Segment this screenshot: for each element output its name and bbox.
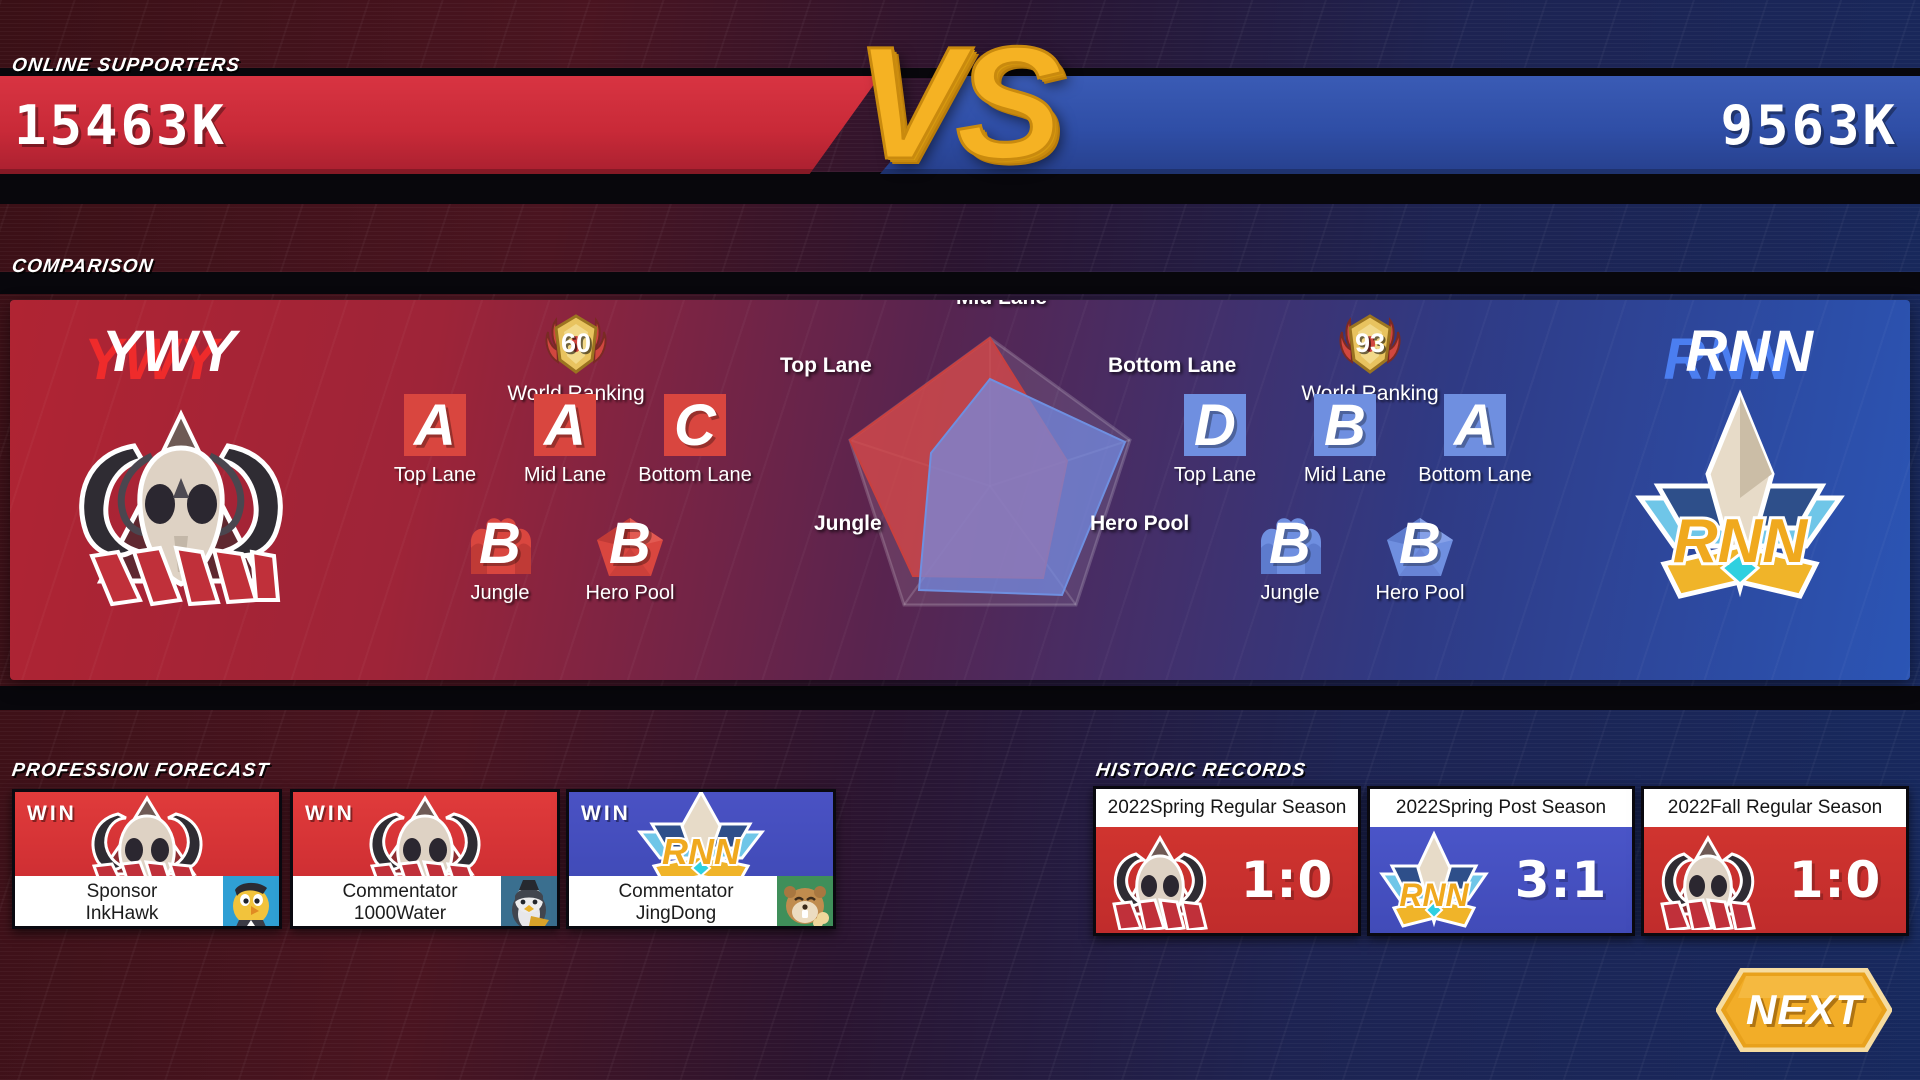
svg-text:RNN: RNN: [1673, 507, 1809, 576]
grade-label: Hero Pool: [1355, 582, 1485, 605]
grade-item: B Jungle: [435, 508, 565, 605]
radar-axis-label-top-lane: Top Lane: [780, 354, 872, 378]
grade-tile-icon: C: [656, 390, 734, 462]
vs-emblem: VS: [836, 18, 1076, 208]
grade-letter: A: [526, 390, 604, 462]
forecast-person: Commentator JingDong: [569, 881, 777, 924]
grade-tile-icon: A: [526, 390, 604, 462]
next-button[interactable]: NEXT: [1716, 968, 1892, 1052]
jungle-grade-icon: B: [1251, 508, 1329, 580]
match-comparison-screen: Online Supporters 15463K 9563K VS Compar…: [0, 0, 1920, 1080]
grade-label: Top Lane: [370, 464, 500, 487]
next-button-label: NEXT: [1716, 968, 1892, 1052]
grade-item: B Hero Pool: [565, 508, 695, 605]
record-body: 1:0: [1644, 827, 1906, 933]
grade-item: C Bottom Lane: [630, 390, 760, 487]
forecast-role: Commentator: [299, 881, 501, 902]
grade-letter: C: [656, 390, 734, 462]
svg-text:RNN: RNN: [662, 831, 741, 872]
record-title: 2022Spring Regular Season: [1096, 789, 1358, 827]
forecast-name: JingDong: [575, 903, 777, 924]
radar-axis-label-hero-pool: Hero Pool: [1090, 512, 1189, 536]
forecast-role: Sponsor: [21, 881, 223, 902]
grade-letter: B: [461, 508, 539, 580]
forecast-verdict: WIN: [305, 802, 355, 826]
ywy-logo-icon: [1098, 830, 1222, 930]
forecast-role: Commentator: [575, 881, 777, 902]
divider-above-comparison: [0, 272, 1920, 294]
grade-letter: B: [1306, 390, 1384, 462]
grade-item: B Mid Lane: [1280, 390, 1410, 487]
grade-label: Mid Lane: [1280, 464, 1410, 487]
world-ranking-badge-icon: 93: [1334, 312, 1406, 378]
comparison-caption: Comparison: [10, 256, 155, 278]
svg-text:RNN: RNN: [1399, 877, 1469, 913]
forecast-card-banner: WIN: [15, 792, 279, 876]
forecast-card-info: Commentator 1000Water: [293, 876, 557, 929]
grade-label: Jungle: [435, 582, 565, 605]
online-supporters-caption: Online Supporters: [10, 55, 241, 77]
forecast-card[interactable]: WIN: [12, 789, 282, 929]
supporters-left-count: 15463K: [14, 94, 227, 157]
grade-tile-icon: A: [396, 390, 474, 462]
grade-letter: B: [591, 508, 669, 580]
grade-letter: B: [1381, 508, 1459, 580]
forecast-card[interactable]: WIN RNN Commentator JingDong: [566, 789, 836, 929]
historic-records-caption: Historic Records: [1094, 760, 1307, 782]
grade-label: Jungle: [1225, 582, 1355, 605]
world-ranking-badge-icon: 60: [540, 312, 612, 378]
grade-letter: A: [1436, 390, 1514, 462]
vs-label: VS: [836, 18, 1076, 188]
grade-label: Bottom Lane: [1410, 464, 1540, 487]
hero-pool-grade-icon: B: [1381, 508, 1459, 580]
radar-axis-label-jungle: Jungle: [814, 512, 882, 536]
grade-label: Mid Lane: [500, 464, 630, 487]
record-body: RNN 3:1: [1370, 827, 1632, 933]
grade-tile-icon: A: [1436, 390, 1514, 462]
record-score: 1:0: [1222, 851, 1358, 909]
team-right-grades-lanes: D Top Lane B Mid Lane A Bottom Lane: [1150, 390, 1540, 487]
record-card[interactable]: 2022Spring Regular Season: [1093, 786, 1361, 936]
team-right-name: RNN RNN: [1685, 318, 1814, 385]
record-score: 1:0: [1770, 851, 1906, 909]
ywy-logo-icon: [1646, 830, 1770, 930]
grade-letter: B: [1251, 508, 1329, 580]
record-score: 3:1: [1496, 851, 1632, 909]
ywy-logo-icon: [72, 792, 222, 876]
record-title: 2022Fall Regular Season: [1644, 789, 1906, 827]
hero-pool-grade-icon: B: [591, 508, 669, 580]
grade-item: A Top Lane: [370, 390, 500, 487]
forecast-person: Sponsor InkHawk: [15, 881, 223, 924]
hamster-avatar: [777, 876, 833, 929]
grade-label: Bottom Lane: [630, 464, 760, 487]
jungle-grade-icon: B: [461, 508, 539, 580]
record-card[interactable]: 2022Fall Regular Season: [1641, 786, 1909, 936]
forecast-verdict: WIN: [581, 802, 631, 826]
world-ranking-value: 93: [1334, 312, 1406, 378]
grade-tile-icon: B: [1306, 390, 1384, 462]
team-right-crest-rnn-icon: RNN: [1610, 378, 1870, 618]
team-left-name-text: YWY: [102, 319, 237, 384]
grade-label: Hero Pool: [565, 582, 695, 605]
rnn-logo-icon: RNN: [1372, 830, 1496, 930]
profession-forecast-caption: Profession Forecast: [10, 760, 270, 782]
forecast-card-banner: WIN RNN: [569, 792, 833, 876]
forecast-card-info: Sponsor InkHawk: [15, 876, 279, 929]
grade-item: A Bottom Lane: [1410, 390, 1540, 487]
grade-letter: D: [1176, 390, 1254, 462]
team-left-grades-lanes: A Top Lane A Mid Lane C Bottom Lane: [370, 390, 760, 487]
divider-below-comparison: [0, 686, 1920, 710]
world-ranking-value: 60: [540, 312, 612, 378]
rnn-logo-icon: RNN: [626, 792, 776, 876]
forecast-name: InkHawk: [21, 903, 223, 924]
bird-avatar: [223, 876, 279, 929]
team-right-name-text: RNN: [1685, 319, 1814, 384]
grade-item: B Hero Pool: [1355, 508, 1485, 605]
record-body: 1:0: [1096, 827, 1358, 933]
grade-item: A Mid Lane: [500, 390, 630, 487]
team-left-grades-extra: B Jungle B Hero Pool: [435, 508, 695, 605]
forecast-card[interactable]: WIN: [290, 789, 560, 929]
penguin-avatar: [501, 876, 557, 929]
forecast-card-info: Commentator JingDong: [569, 876, 833, 929]
record-card[interactable]: 2022Spring Post Season RNN 3:1: [1367, 786, 1635, 936]
forecast-verdict: WIN: [27, 802, 77, 826]
team-right-grades-extra: B Jungle B Hero Pool: [1225, 508, 1485, 605]
radar-axis-label-bottom-lane: Bottom Lane: [1108, 354, 1236, 378]
record-title: 2022Spring Post Season: [1370, 789, 1632, 827]
supporters-right-count: 9563K: [1720, 94, 1898, 157]
grade-letter: A: [396, 390, 474, 462]
ywy-logo-icon: [350, 792, 500, 876]
team-left-name: YWY YWY: [102, 318, 237, 385]
radar-axis-label-mid-lane: Mid Lane: [956, 300, 1047, 310]
grade-item: D Top Lane: [1150, 390, 1280, 487]
forecast-name: 1000Water: [299, 903, 501, 924]
team-left-crest-ram-skull-icon: [56, 386, 306, 616]
supporters-left-bar: 15463K: [0, 76, 880, 174]
grade-label: Top Lane: [1150, 464, 1280, 487]
grade-tile-icon: D: [1176, 390, 1254, 462]
comparison-panel: YWY YWY: [10, 300, 1910, 680]
comparison-radar-chart: Mid Lane Bottom Lane Hero Pool Jungle To…: [790, 300, 1190, 670]
grade-item: B Jungle: [1225, 508, 1355, 605]
forecast-card-banner: WIN: [293, 792, 557, 876]
forecast-person: Commentator 1000Water: [293, 881, 501, 924]
